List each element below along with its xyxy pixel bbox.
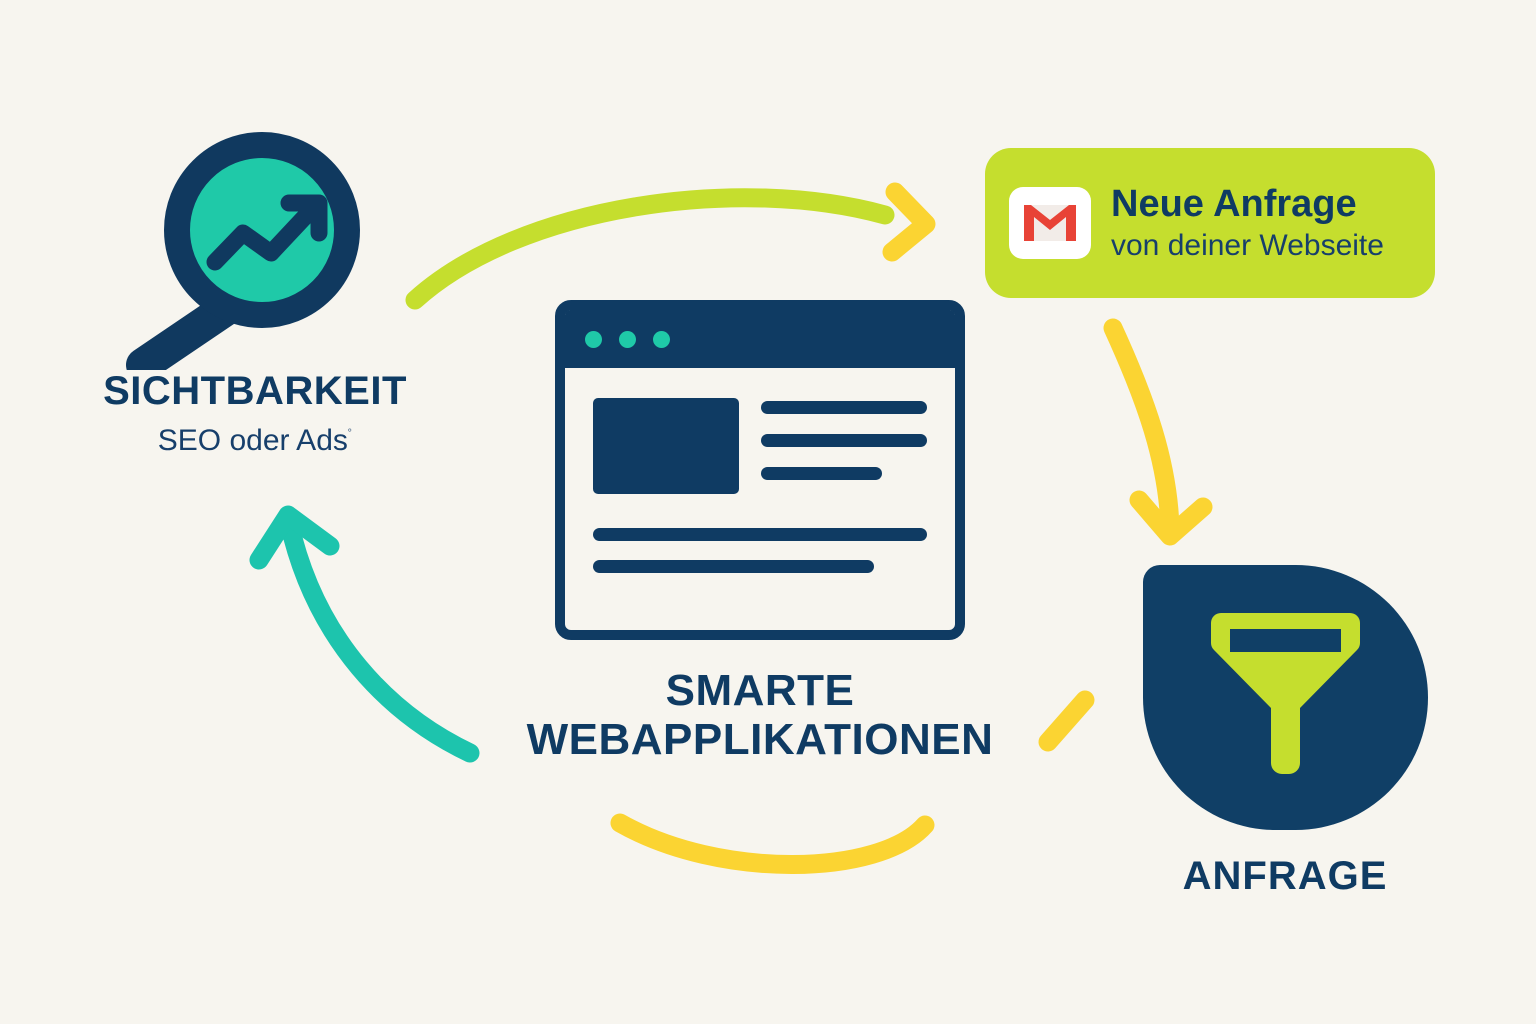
browser-dot-2 xyxy=(619,331,636,348)
browser-body-text-lines xyxy=(593,528,927,573)
node-request[interactable]: ANFRAGE xyxy=(1120,565,1450,899)
browser-text-line xyxy=(761,401,927,414)
funnel-badge xyxy=(1143,565,1428,830)
email-title: Neue Anfrage xyxy=(1111,184,1413,225)
browser-title-bar xyxy=(565,310,955,368)
browser-text-line xyxy=(761,434,927,447)
webapp-title-line2: WEBAPPLIKATIONEN xyxy=(400,715,1120,764)
browser-dot-3 xyxy=(653,331,670,348)
browser-window-icon xyxy=(555,300,965,640)
browser-text-line xyxy=(593,560,874,573)
browser-text-line xyxy=(593,528,927,541)
email-subtitle: von deiner Webseite xyxy=(1111,229,1413,262)
visibility-subtitle-mark: ˚ xyxy=(348,427,352,442)
webapp-title: SMARTE WEBAPPLIKATIONEN xyxy=(400,666,1120,765)
browser-content xyxy=(565,368,955,630)
funnel-icon xyxy=(1143,565,1428,830)
email-notification-badge[interactable]: Neue Anfrage von deiner Webseite xyxy=(985,148,1435,298)
browser-hero-row xyxy=(593,398,927,494)
webapp-title-line1: SMARTE xyxy=(400,666,1120,715)
gmail-icon xyxy=(1009,187,1091,259)
email-text-block: Neue Anfrage von deiner Webseite xyxy=(1111,184,1413,262)
browser-hero-image xyxy=(593,398,739,494)
node-webapp[interactable]: SMARTE WEBAPPLIKATIONEN xyxy=(400,300,1120,765)
browser-hero-text-lines xyxy=(761,398,927,480)
visibility-subtitle-text: SEO oder Ads xyxy=(158,424,348,457)
request-title: ANFRAGE xyxy=(1120,854,1450,899)
connector-visibility-to-email xyxy=(415,192,926,300)
browser-dot-1 xyxy=(585,331,602,348)
browser-text-line xyxy=(761,467,882,480)
diagram-canvas: SICHTBARKEIT SEO oder Ads˚ xyxy=(0,0,1536,1024)
connector-email-to-request xyxy=(1113,328,1203,536)
